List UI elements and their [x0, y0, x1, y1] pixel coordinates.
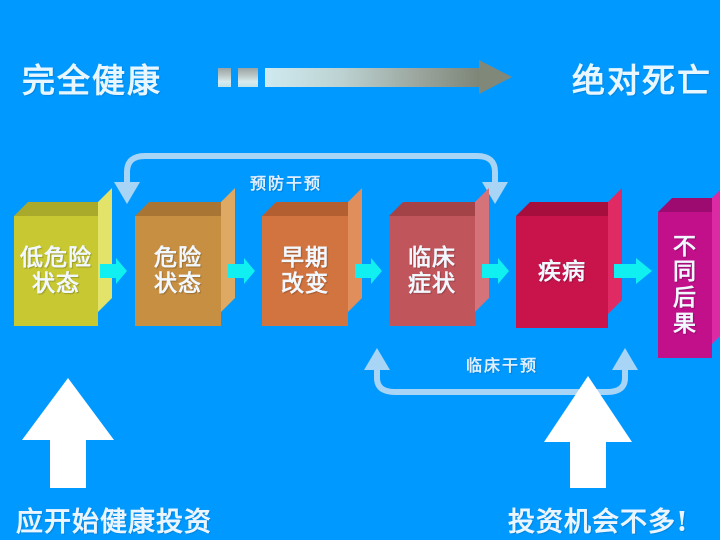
flow-arrow-2 [228, 258, 255, 284]
few-investment-chances-label: 投资机会不多! [508, 500, 689, 539]
stage-box-label: 临床症状 [397, 245, 467, 297]
stage-box-front-face: 不同后果 [658, 212, 712, 358]
stage-box-front-face: 疾病 [516, 216, 608, 328]
health-to-death-gradient-arrow [265, 68, 479, 87]
start-health-investment-up-arrow-icon [22, 378, 114, 488]
header-right-label: 绝对死亡 [572, 54, 712, 102]
stage-box-side-face [608, 188, 622, 314]
flow-arrow-3 [355, 258, 382, 284]
progress-dash-1 [218, 68, 231, 87]
stage-box-side-face [98, 188, 112, 312]
stage-box-label: 危险状态 [143, 245, 213, 297]
stage-box-risk-state[interactable]: 危险状态 [135, 216, 221, 326]
few-investment-chances-up-arrow-icon [544, 376, 632, 488]
stage-box-side-face [712, 184, 720, 344]
stage-box-low-risk-state[interactable]: 低危险状态 [14, 216, 98, 326]
flow-arrow-4 [482, 258, 509, 284]
flow-arrow-1 [100, 258, 127, 284]
stage-box-top-face [389, 202, 489, 216]
clinical-intervention-label: 临床干预 [466, 352, 538, 376]
stage-box-early-change[interactable]: 早期改变 [262, 216, 348, 326]
slide-canvas: 完全健康 绝对死亡 预防干预 低危险状态 危险状态 [0, 0, 720, 540]
stage-box-front-face: 低危险状态 [14, 216, 98, 326]
stage-box-label: 疾病 [532, 259, 592, 285]
stage-box-side-face [475, 188, 489, 312]
stage-box-side-face [348, 188, 362, 312]
prevention-intervention-label: 预防干预 [250, 170, 322, 194]
stage-box-label: 不同后果 [668, 234, 702, 337]
stage-box-top-face [135, 202, 235, 216]
start-health-investment-label: 应开始健康投资 [16, 500, 212, 539]
stage-box-top-face [262, 202, 362, 216]
flow-arrow-5 [614, 258, 652, 284]
stage-box-front-face: 早期改变 [262, 216, 348, 326]
stage-box-label: 早期改变 [270, 245, 340, 297]
stage-box-front-face: 危险状态 [135, 216, 221, 326]
stage-box-label: 低危险状态 [14, 245, 98, 297]
header-left-label: 完全健康 [22, 54, 162, 102]
stage-box-clinical-symptoms[interactable]: 临床症状 [389, 216, 475, 326]
stage-box-side-face [221, 188, 235, 312]
stage-box-disease[interactable]: 疾病 [516, 216, 608, 328]
progress-dash-2 [238, 68, 258, 87]
stage-box-top-face [516, 202, 622, 216]
stage-box-top-face [658, 198, 720, 212]
stage-box-front-face: 临床症状 [389, 216, 475, 326]
stage-box-different-outcomes[interactable]: 不同后果 [658, 212, 712, 358]
